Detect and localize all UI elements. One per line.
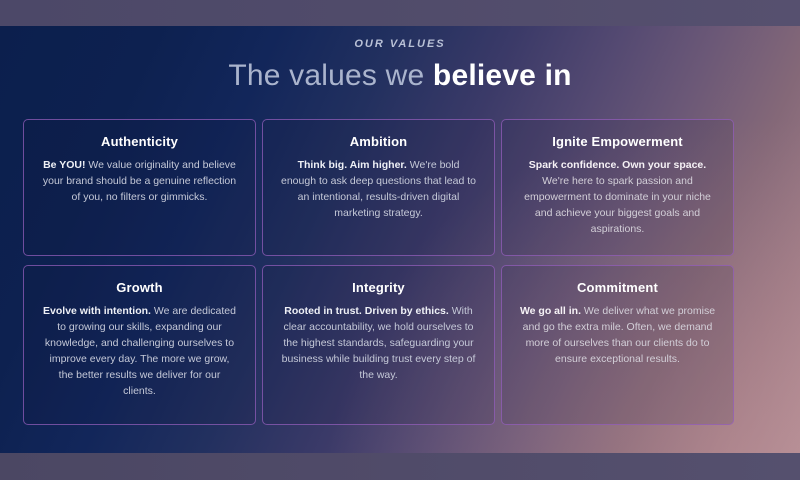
- values-section-screen: OUR VALUES The values we believe in Auth…: [0, 0, 800, 480]
- value-card-growth[interactable]: Growth Evolve with intention. We are ded…: [23, 265, 256, 425]
- value-card-lead: Spark confidence. Own your space.: [529, 159, 706, 171]
- value-card-body: Rooted in trust. Driven by ethics. With …: [280, 304, 477, 384]
- letterbox-band-bottom: [0, 453, 800, 480]
- value-card-text: We're here to spark passion and empowerm…: [524, 175, 711, 235]
- value-card-lead: Rooted in trust. Driven by ethics.: [284, 305, 449, 317]
- value-card-title: Ambition: [350, 134, 408, 149]
- letterbox-band-top: [0, 0, 800, 26]
- section-content: OUR VALUES The values we believe in: [0, 26, 800, 94]
- value-card-integrity[interactable]: Integrity Rooted in trust. Driven by eth…: [262, 265, 495, 425]
- value-card-title: Integrity: [352, 280, 405, 295]
- values-card-grid: Authenticity Be YOU! We value originalit…: [23, 119, 735, 425]
- value-card-lead: Be YOU!: [43, 159, 85, 171]
- value-card-ambition[interactable]: Ambition Think big. Aim higher. We're bo…: [262, 119, 495, 256]
- value-card-title: Commitment: [577, 280, 658, 295]
- value-card-authenticity[interactable]: Authenticity Be YOU! We value originalit…: [23, 119, 256, 256]
- value-card-lead: Evolve with intention.: [43, 305, 151, 317]
- value-card-title: Authenticity: [101, 134, 178, 149]
- value-card-lead: We go all in.: [520, 305, 581, 317]
- page-title: The values we believe in: [0, 59, 800, 94]
- value-card-commitment[interactable]: Commitment We go all in. We deliver what…: [501, 265, 734, 425]
- value-card-body: Think big. Aim higher. We're bold enough…: [280, 158, 477, 222]
- value-card-body: We go all in. We deliver what we promise…: [519, 304, 716, 368]
- value-card-body: Evolve with intention. We are dedicated …: [41, 304, 238, 400]
- section-eyebrow: OUR VALUES: [0, 38, 800, 50]
- value-card-text: We are dedicated to growing our skills, …: [45, 305, 236, 397]
- page-title-light: The values we: [228, 59, 433, 92]
- value-card-body: Spark confidence. Own your space. We're …: [519, 158, 716, 238]
- value-card-body: Be YOU! We value originality and believe…: [41, 158, 238, 206]
- value-card-title: Ignite Empowerment: [552, 134, 683, 149]
- value-card-ignite-empowerment[interactable]: Ignite Empowerment Spark confidence. Own…: [501, 119, 734, 256]
- value-card-lead: Think big. Aim higher.: [298, 159, 407, 171]
- page-title-strong: believe in: [433, 59, 572, 92]
- values-section-stage: OUR VALUES The values we believe in Auth…: [0, 26, 800, 453]
- value-card-title: Growth: [116, 280, 162, 295]
